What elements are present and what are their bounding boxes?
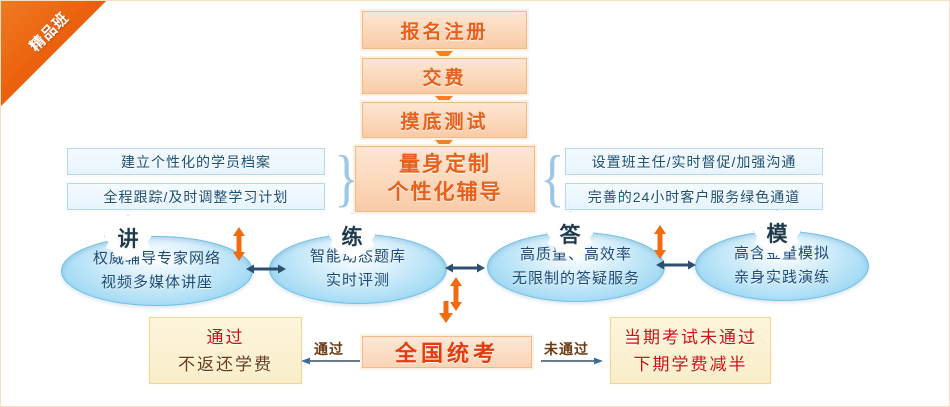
pillar-ellipse-lecture[interactable]: 权威辅导专家网络 视频多媒体讲座 <box>61 236 253 306</box>
left-feature-2-label: 全程跟踪/及时调整学习计划 <box>104 187 289 207</box>
pillar-1-line2: 视频多媒体讲座 <box>101 271 213 295</box>
national-exam-label: 全国统考 <box>395 336 499 368</box>
left-feature-tracking-plan[interactable]: 全程跟踪/及时调整学习计划 <box>67 183 325 210</box>
right-feature-head-teacher[interactable]: 设置班主任/实时督促/加强沟通 <box>565 148 823 175</box>
double-arrow-vertical-icon-1 <box>232 227 246 261</box>
result-pass-line2: 不返还学费 <box>178 351 273 378</box>
center-custom-tutoring-box[interactable]: 量身定制 个性化辅导 <box>355 146 535 212</box>
pillar-4-line2: 亲身实践演练 <box>734 266 830 290</box>
right-feature-1-label: 设置班主任/实时督促/加强沟通 <box>592 152 797 172</box>
national-exam-box[interactable]: 全国统考 <box>362 336 532 368</box>
result-pass-box[interactable]: 通过 不返还学费 <box>149 317 302 384</box>
double-arrow-horizontal-icon-1 <box>246 263 286 275</box>
result-pass-line1: 通过 <box>207 324 245 351</box>
double-arrow-horizontal-icon-2 <box>445 262 485 274</box>
arrow-down-to-exam-icon <box>438 301 454 323</box>
pillar-1-line1: 权威辅导专家网络 <box>93 247 221 271</box>
flow-step-placement-label: 摸底测试 <box>400 107 488 134</box>
arrow-right-fail-icon <box>541 356 603 366</box>
result-fail-line2: 下期学费减半 <box>634 351 748 378</box>
pillar-3-line2: 无限制的答疑服务 <box>512 267 640 291</box>
double-arrow-horizontal-icon-3 <box>656 259 696 271</box>
flow-step-signup[interactable]: 报名注册 <box>362 11 527 49</box>
flow-step-payment-label: 交费 <box>422 63 466 90</box>
right-brace: { <box>540 146 565 210</box>
flow-step-placement-test[interactable]: 摸底测试 <box>362 102 527 138</box>
flow-step-signup-label: 报名注册 <box>400 17 488 44</box>
corner-ribbon: 精品班 <box>1 1 121 121</box>
left-feature-1-label: 建立个性化的学员档案 <box>121 152 271 172</box>
right-feature-2-label: 完善的24小时客户服务绿色通道 <box>588 187 801 207</box>
center-line2: 个性化辅导 <box>388 179 503 207</box>
left-brace: } <box>334 146 359 210</box>
pillar-2-line2: 实时评测 <box>326 269 390 293</box>
result-fail-line1: 当期考试未通过 <box>624 324 757 351</box>
arrow-left-pass-icon <box>301 356 363 366</box>
right-feature-24h-service[interactable]: 完善的24小时客户服务绿色通道 <box>565 183 823 210</box>
result-fail-box[interactable]: 当期考试未通过 下期学费减半 <box>610 317 771 384</box>
flow-step-payment[interactable]: 交费 <box>362 58 527 94</box>
double-arrow-vertical-icon-3 <box>653 225 667 259</box>
center-line1: 量身定制 <box>399 151 491 179</box>
diagram-canvas: 精品班 报名注册 交费 摸底测试 量身定制 个性化辅导 } { 建立个性化的学员… <box>0 0 950 407</box>
left-feature-student-profile[interactable]: 建立个性化的学员档案 <box>67 148 325 175</box>
